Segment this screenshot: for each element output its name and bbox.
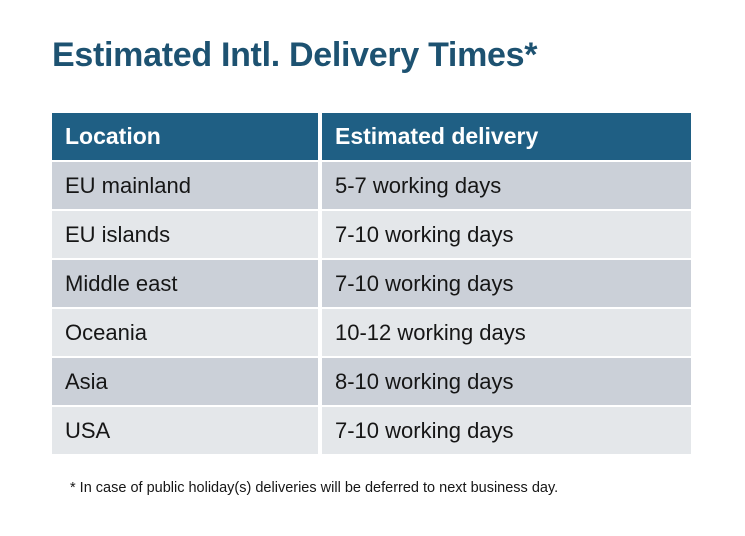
- cell-location: Oceania: [52, 309, 318, 356]
- footnote-public-holiday: * In case of public holiday(s) deliverie…: [70, 480, 558, 496]
- cell-location: EU islands: [52, 211, 318, 258]
- delivery-times-page: Estimated Intl. Delivery Times* Location…: [0, 0, 745, 536]
- table-row: USA 7-10 working days: [52, 407, 691, 454]
- cell-location: EU mainland: [52, 162, 318, 209]
- column-header-estimated-delivery: Estimated delivery: [322, 113, 691, 160]
- column-header-location: Location: [52, 113, 318, 160]
- table-row: Middle east 7-10 working days: [52, 260, 691, 307]
- table-row: Asia 8-10 working days: [52, 358, 691, 405]
- cell-estimated-delivery: 10-12 working days: [322, 309, 691, 356]
- table-row: EU mainland 5-7 working days: [52, 162, 691, 209]
- table-row: EU islands 7-10 working days: [52, 211, 691, 258]
- cell-estimated-delivery: 7-10 working days: [322, 260, 691, 307]
- table-row: Oceania 10-12 working days: [52, 309, 691, 356]
- estimated-delivery-table: Location Estimated delivery EU mainland …: [52, 113, 691, 454]
- cell-location: Asia: [52, 358, 318, 405]
- cell-location: USA: [52, 407, 318, 454]
- table-header-row: Location Estimated delivery: [52, 113, 691, 160]
- page-title: Estimated Intl. Delivery Times*: [52, 36, 537, 75]
- cell-estimated-delivery: 7-10 working days: [322, 407, 691, 454]
- cell-estimated-delivery: 5-7 working days: [322, 162, 691, 209]
- cell-estimated-delivery: 8-10 working days: [322, 358, 691, 405]
- cell-location: Middle east: [52, 260, 318, 307]
- cell-estimated-delivery: 7-10 working days: [322, 211, 691, 258]
